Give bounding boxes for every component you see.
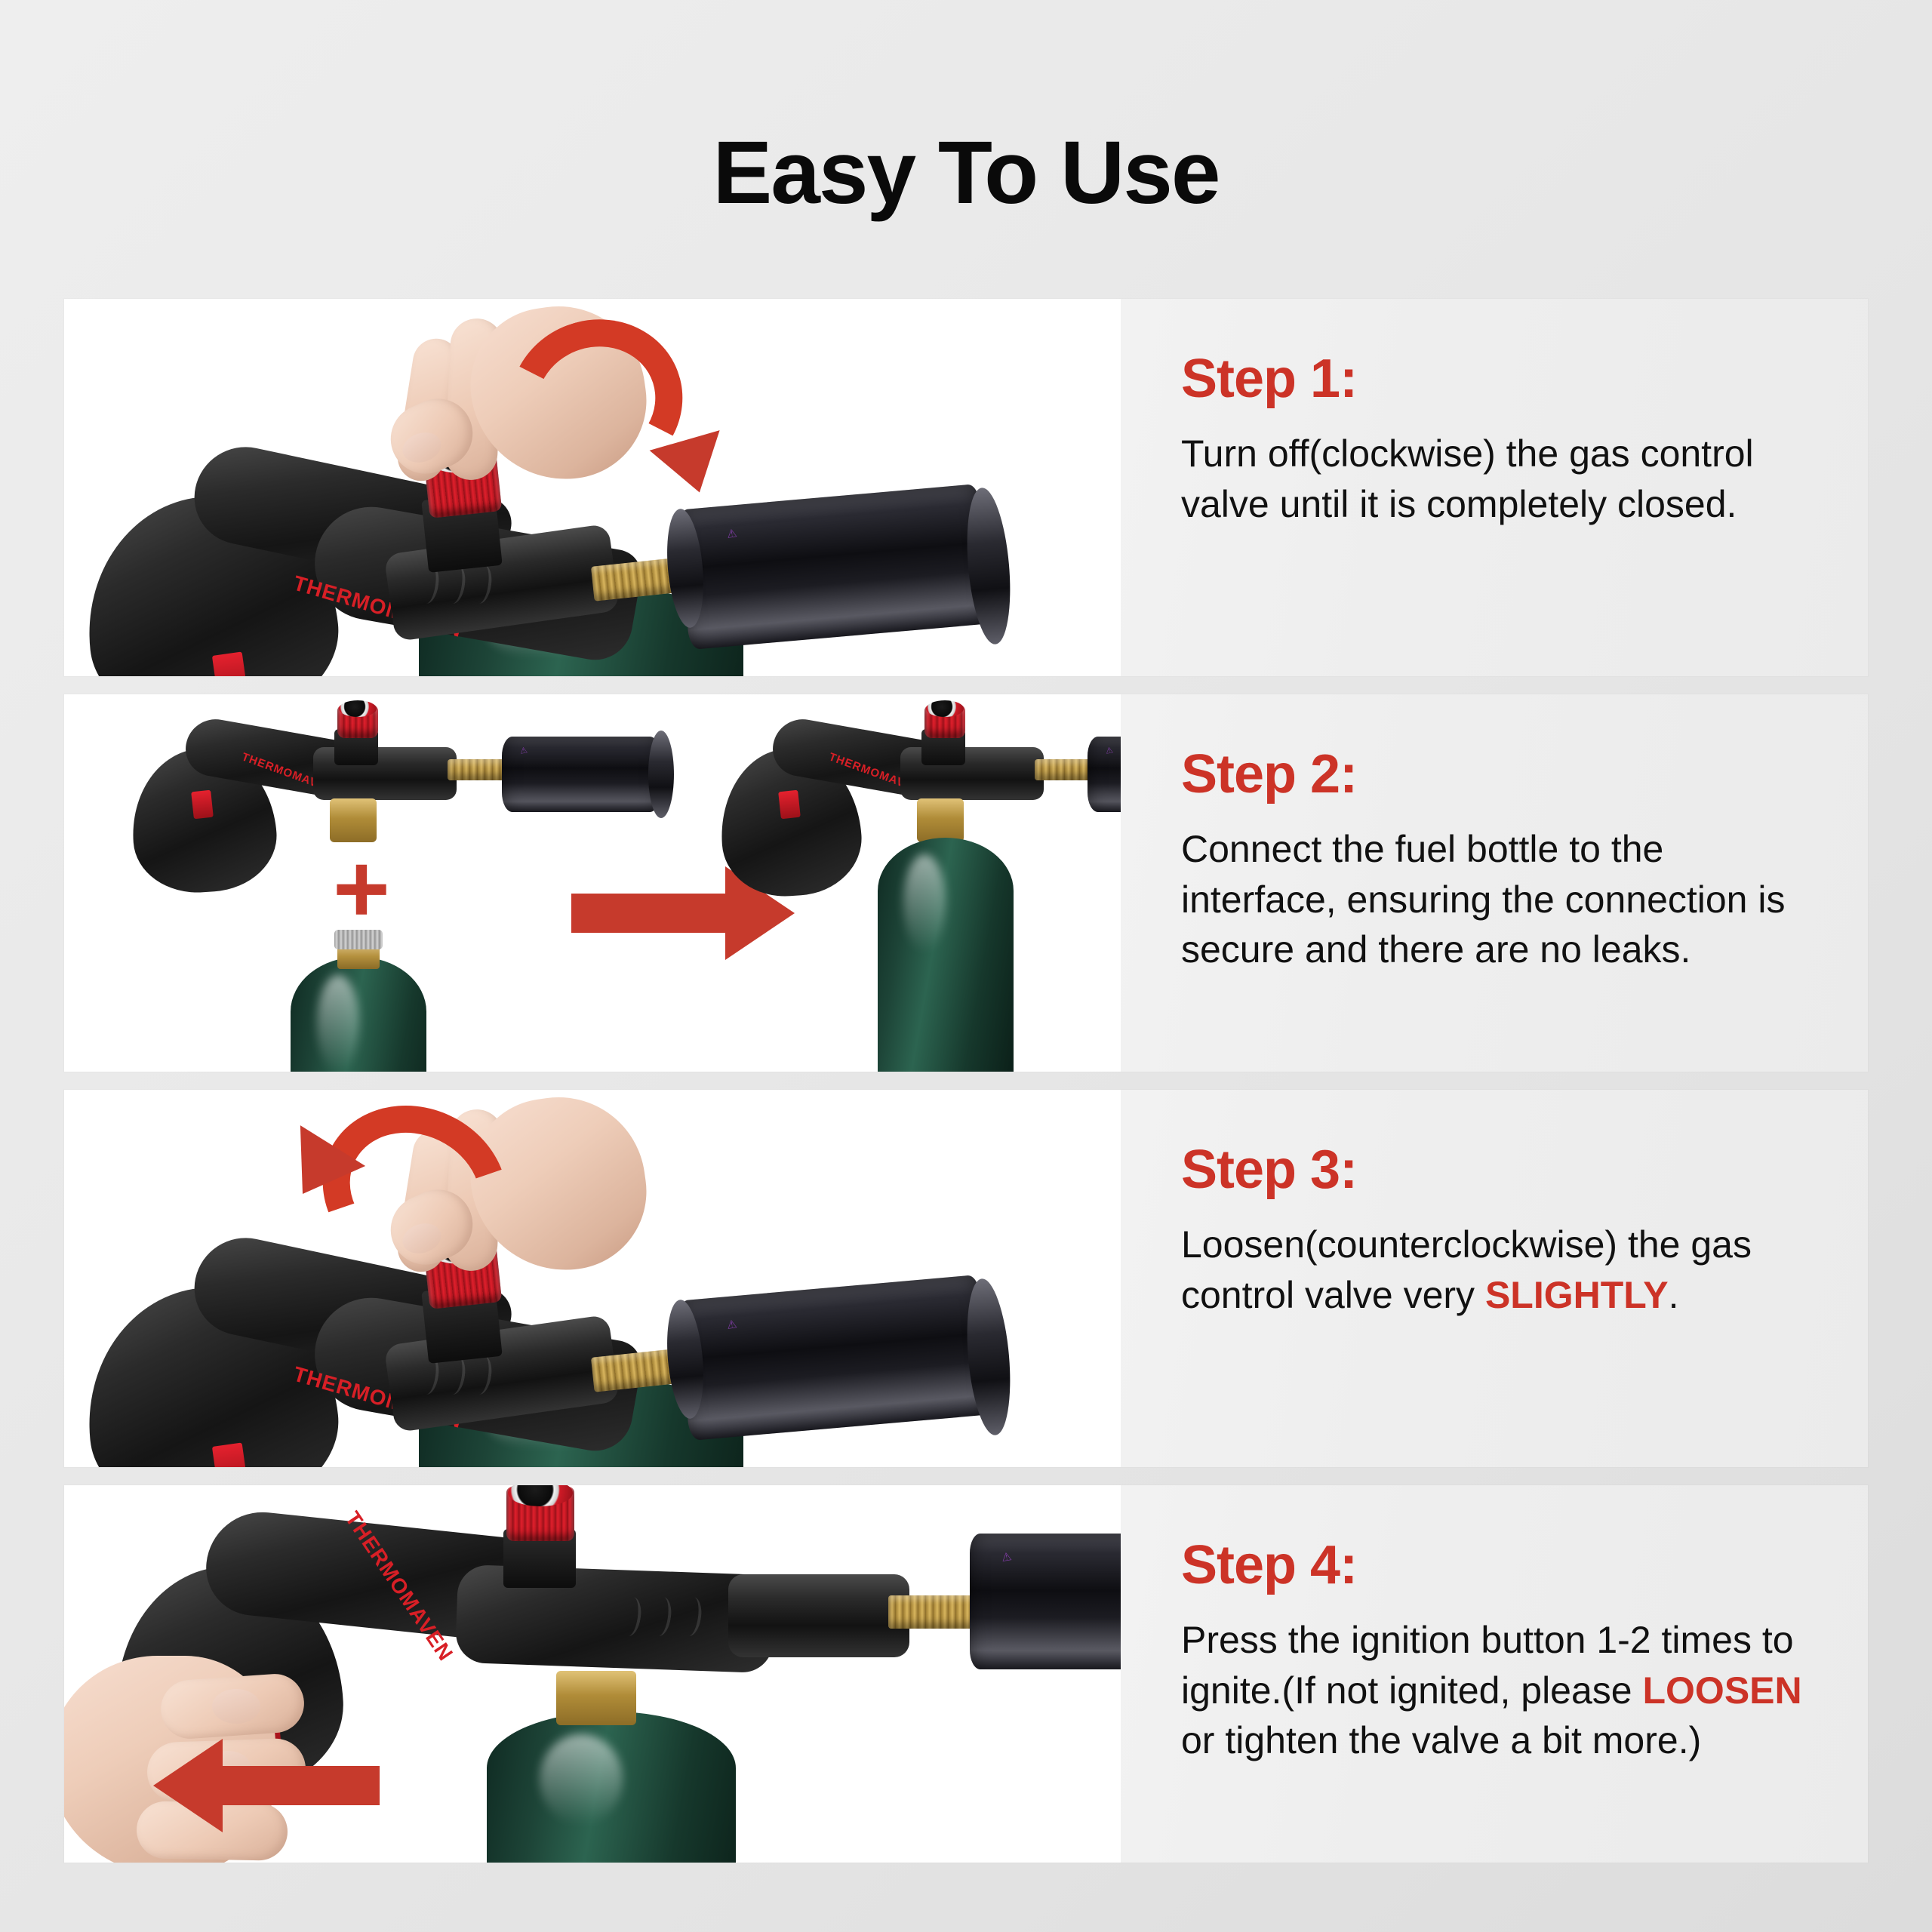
- step-1-body-text: Turn off(clockwise) the gas control valv…: [1181, 432, 1754, 525]
- burner-head: [678, 1275, 991, 1441]
- torch-brass-outlet: [917, 798, 964, 842]
- counterclockwise-arrow: [291, 1108, 540, 1297]
- brass-thread-neck: [1035, 759, 1094, 780]
- ignition-trigger[interactable]: [778, 790, 801, 820]
- step-3-heading: Step 3:: [1181, 1143, 1807, 1197]
- step-3-body-highlight: SLIGHTLY: [1485, 1274, 1669, 1316]
- arrow-shaft: [571, 894, 730, 933]
- step-3-body-suffix: .: [1669, 1274, 1679, 1316]
- arrow-shaft: [220, 1766, 380, 1805]
- clockwise-arrow: [509, 320, 728, 509]
- warning-label-icon: ⚠: [1105, 745, 1114, 755]
- step-3-text: Step 3: Loosen(counterclockwise) the gas…: [1121, 1090, 1868, 1467]
- gas-bottle: [878, 838, 1014, 1072]
- step-row-3: THERMOMAVEN ⚠ Step 3: Loosen(countercloc…: [64, 1090, 1868, 1467]
- step-2-body-text: Connect the fuel bottle to the interface…: [1181, 828, 1786, 971]
- left-arrow: [153, 1739, 380, 1832]
- step-2-heading: Step 2:: [1181, 747, 1807, 801]
- arrow-head: [153, 1739, 223, 1832]
- step-1-body: Turn off(clockwise) the gas control valv…: [1181, 429, 1807, 529]
- step-1-heading: Step 1:: [1181, 352, 1807, 406]
- valve-knob-top: [339, 700, 377, 717]
- fingernail: [212, 1689, 260, 1724]
- step-1-illustration: THERMOMAVEN ⚠: [64, 299, 1121, 676]
- brass-thread-neck: [448, 759, 506, 780]
- ignition-trigger[interactable]: [191, 790, 214, 820]
- warning-label-icon: ⚠: [1001, 1549, 1013, 1564]
- step-1-text: Step 1: Turn off(clockwise) the gas cont…: [1121, 299, 1868, 676]
- step-row-4: THERMOMAVEN ⚠ Step 4: Press the ig: [64, 1485, 1868, 1863]
- step-4-illustration: THERMOMAVEN ⚠: [64, 1485, 1121, 1863]
- step-4-body-suffix: or tighten the valve a bit more.): [1181, 1719, 1701, 1761]
- step-row-2: THERMOMAVEN ⚠ + THERMOMAVEN: [64, 694, 1868, 1072]
- burner-head: [970, 1534, 1121, 1669]
- warning-label-icon: ⚠: [726, 526, 738, 541]
- step-4-body: Press the ignition button 1-2 times to i…: [1181, 1615, 1807, 1766]
- bottle-highlight: [540, 1734, 623, 1825]
- bottle-brass-collar: [556, 1671, 636, 1725]
- step-4-text: Step 4: Press the ignition button 1-2 ti…: [1121, 1485, 1868, 1863]
- step-3-body: Loosen(counterclockwise) the gas control…: [1181, 1220, 1807, 1320]
- step-2-text: Step 2: Connect the fuel bottle to the i…: [1121, 694, 1868, 1072]
- burner-head: [1088, 737, 1121, 812]
- step-4-body-highlight: LOOSEN: [1643, 1669, 1802, 1712]
- bottle-highlight: [903, 854, 946, 952]
- warning-label-icon: ⚠: [519, 745, 528, 755]
- step-4-heading: Step 4:: [1181, 1538, 1807, 1592]
- burner-front-rim: [648, 731, 674, 818]
- bottle-highlight: [317, 975, 359, 1072]
- page-title: Easy To Use: [0, 127, 1932, 220]
- plus-symbol: +: [333, 854, 390, 923]
- bottle-cap: [334, 930, 383, 949]
- step-2-illustration: THERMOMAVEN ⚠ + THERMOMAVEN: [64, 694, 1121, 1072]
- step-2-body: Connect the fuel bottle to the interface…: [1181, 824, 1807, 975]
- step-3-illustration: THERMOMAVEN ⚠: [64, 1090, 1121, 1467]
- torch-barrel: [728, 1574, 909, 1657]
- warning-label-icon: ⚠: [726, 1317, 738, 1332]
- valve-knob-top: [926, 700, 964, 717]
- step-row-1: THERMOMAVEN ⚠ Step 1:: [64, 299, 1868, 676]
- brass-thread-neck: [888, 1595, 979, 1629]
